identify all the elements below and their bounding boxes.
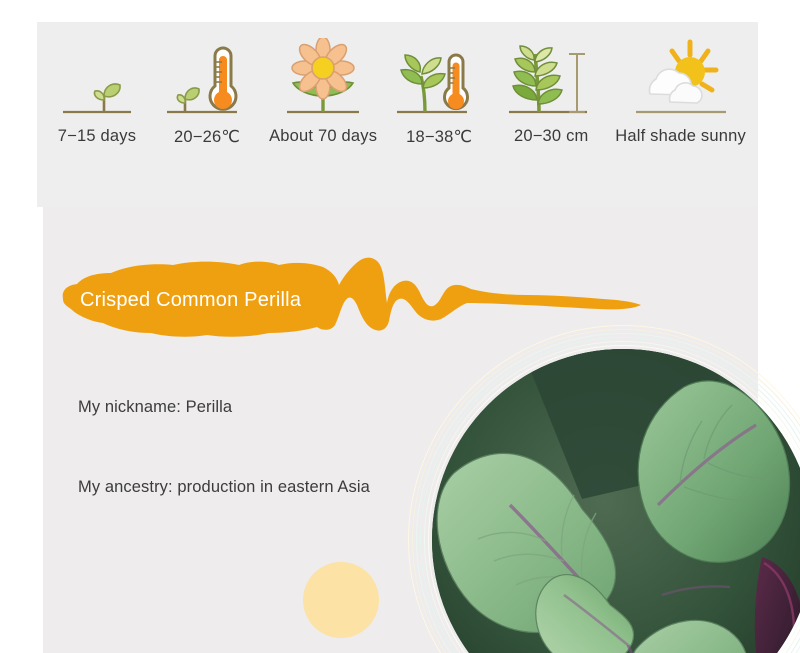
- page-title: Crisped Common Perilla: [80, 289, 301, 312]
- info-cell-height: 20−30 cm: [501, 22, 601, 146]
- info-label-height: 20−30 cm: [514, 127, 589, 146]
- info-cell-maturity: About 70 days: [269, 22, 377, 146]
- ancestry-line: My ancestry: production in eastern Asia: [78, 478, 370, 497]
- plant-thermometer-icon: [391, 22, 487, 122]
- info-label-germination-temp: 20−26℃: [174, 127, 240, 147]
- info-cell-germination: 7−15 days: [49, 22, 145, 146]
- info-label-light: Half shade sunny: [615, 127, 746, 146]
- nickname-line: My nickname: Perilla: [78, 398, 232, 417]
- plant-ruler-icon: [501, 22, 601, 122]
- info-label-maturity: About 70 days: [269, 127, 377, 146]
- plant-info-card: 7−15 days: [0, 0, 800, 653]
- growth-info-strip: 7−15 days: [37, 22, 758, 207]
- yellow-dot-decoration: [303, 562, 379, 638]
- info-label-growing-temp: 18−38℃: [406, 127, 472, 147]
- info-cell-light: Half shade sunny: [615, 22, 746, 146]
- sprout-icon: [49, 22, 145, 122]
- info-label-germination: 7−15 days: [58, 127, 136, 146]
- info-cell-germination-temp: 20−26℃: [159, 22, 255, 147]
- flower-icon: [269, 22, 377, 122]
- sun-cloud-icon: [615, 22, 746, 122]
- sprout-thermometer-icon: [159, 22, 255, 122]
- info-cell-growing-temp: 18−38℃: [391, 22, 487, 147]
